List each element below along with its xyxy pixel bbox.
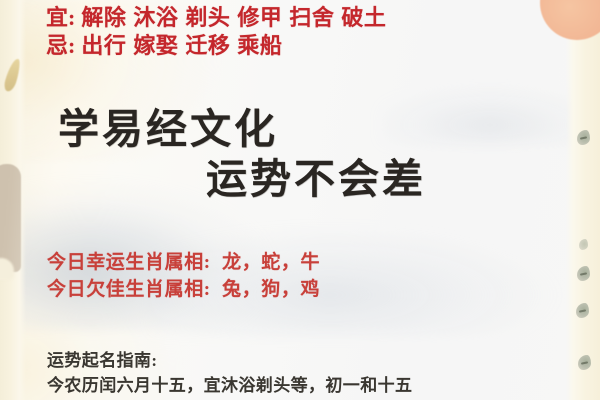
zodiac-block: 今日幸运生肖属相: 龙，蛇，牛 今日欠佳生肖属相: 兔，狗，鸡 (47, 249, 320, 303)
almanac-avoid-items: 出行嫁娶迁移乘船 (81, 33, 289, 58)
almanac-item: 修甲 (237, 5, 282, 30)
almanac-item: 嫁娶 (133, 33, 178, 58)
almanac-item: 扫舍 (289, 5, 334, 30)
almanac-item: 剃头 (185, 5, 230, 30)
zodiac-lucky-label: 今日幸运生肖属相: (47, 252, 211, 273)
almanac-avoid-row: 忌: 出行嫁娶迁移乘船 (46, 32, 393, 60)
zodiac-unlucky-values: 兔，狗，鸡 (222, 279, 320, 300)
zodiac-lucky-values: 龙，蛇，牛 (222, 252, 320, 273)
right-decorative-band (566, 0, 600, 400)
tan-blob-shape (0, 164, 21, 272)
almanac-avoid-label: 忌: (46, 33, 75, 58)
almanac-suitable-label: 宜: (46, 5, 75, 30)
zodiac-unlucky-row: 今日欠佳生肖属相: 兔，狗，鸡 (47, 276, 320, 303)
almanac-poster: 宜: 解除沐浴剃头修甲扫舍破土 忌: 出行嫁娶迁移乘船 学易经文化 运势不会差 … (0, 0, 600, 400)
headline-line-1: 学易经文化 (58, 106, 278, 152)
almanac-block: 宜: 解除沐浴剃头修甲扫舍破土 忌: 出行嫁娶迁移乘船 (46, 4, 393, 60)
almanac-item: 解除 (81, 5, 126, 30)
guide-title: 运势起名指南: (47, 348, 412, 373)
headline-line-2: 运势不会差 (58, 154, 426, 204)
almanac-item: 出行 (81, 33, 126, 58)
guide-block: 运势起名指南: 今农历闰六月十五，宜沐浴剃头等，初一和十五 (47, 348, 412, 398)
zodiac-unlucky-label: 今日欠佳生肖属相: (47, 279, 211, 300)
almanac-suitable-items: 解除沐浴剃头修甲扫舍破土 (81, 5, 393, 30)
almanac-item: 乘船 (237, 33, 282, 58)
headline: 学易经文化 运势不会差 (58, 104, 426, 204)
almanac-item: 沐浴 (133, 5, 178, 30)
almanac-item: 破土 (341, 5, 386, 30)
almanac-item: 迁移 (185, 33, 230, 58)
guide-body: 今农历闰六月十五，宜沐浴剃头等，初一和十五 (47, 373, 412, 398)
almanac-suitable-row: 宜: 解除沐浴剃头修甲扫舍破土 (46, 4, 393, 32)
zodiac-lucky-row: 今日幸运生肖属相: 龙，蛇，牛 (47, 249, 320, 276)
